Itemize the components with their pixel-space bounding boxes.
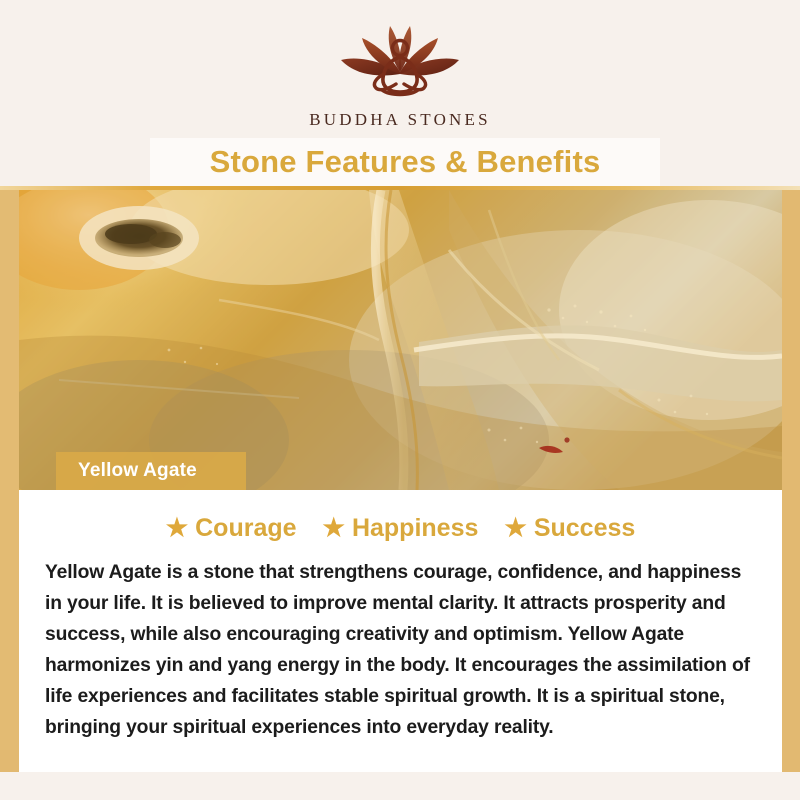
keyword-label: Courage	[195, 514, 296, 543]
frame-left-bar	[0, 186, 19, 772]
keyword-label: Success	[534, 514, 635, 543]
stone-description-card: ★ Courage ★ Happiness ★ Success Yellow A…	[19, 490, 782, 772]
keyword-row: ★ Courage ★ Happiness ★ Success	[19, 490, 782, 543]
star-icon: ★	[504, 516, 526, 541]
stone-name-label: Yellow Agate	[56, 460, 197, 482]
stone-texture-graphic	[19, 190, 782, 490]
stone-info-poster: BUDDHA STONES Stone Features & Benefits	[0, 0, 800, 800]
brand-logo-block: BUDDHA STONES	[0, 16, 800, 130]
page-title: Stone Features & Benefits	[210, 144, 601, 180]
stone-name-badge: Yellow Agate	[56, 452, 246, 490]
star-icon: ★	[323, 516, 345, 541]
keyword-success: ★ Success	[504, 514, 635, 543]
title-panel: Stone Features & Benefits	[150, 138, 660, 186]
brand-name: BUDDHA STONES	[309, 110, 491, 130]
keyword-label: Happiness	[352, 514, 478, 543]
description-paragraph: Yellow Agate is a stone that strengthens…	[45, 557, 756, 743]
stone-photo: Yellow Agate	[19, 190, 782, 490]
frame-bottom-strip	[0, 772, 800, 800]
lotus-meditation-logo-icon	[310, 16, 490, 108]
poster-header: BUDDHA STONES Stone Features & Benefits	[0, 0, 800, 190]
keyword-courage: ★ Courage	[166, 514, 297, 543]
star-icon: ★	[166, 516, 188, 541]
keyword-happiness: ★ Happiness	[323, 514, 479, 543]
